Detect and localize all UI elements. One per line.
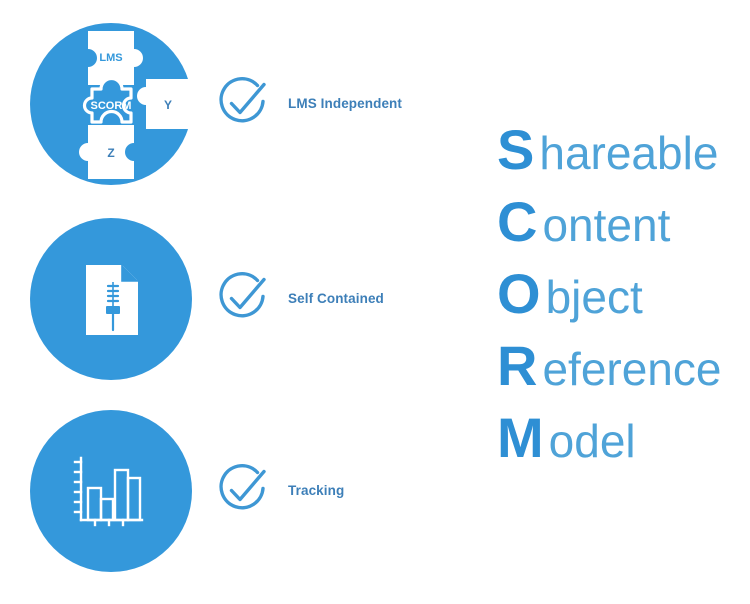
acronym-initial: R xyxy=(497,338,536,394)
acronym-rest: bject xyxy=(546,274,643,320)
acronym-rest: ontent xyxy=(542,202,670,248)
feature-label: Tracking xyxy=(288,483,344,498)
puzzle-label-y: Y xyxy=(164,98,172,112)
bar-chart-icon xyxy=(30,410,192,572)
feature-label: LMS Independent xyxy=(288,96,402,111)
puzzle-label-scorm: SCORM xyxy=(91,100,132,112)
check-circle-icon xyxy=(212,459,274,521)
check-circle-container xyxy=(212,459,274,521)
scorm-acronym: S hareable C ontent O bject R eference M… xyxy=(497,122,750,482)
check-circle-icon xyxy=(212,267,274,329)
check-circle-icon xyxy=(212,72,274,134)
feature-row: Self Contained xyxy=(0,198,384,398)
document-disc-container xyxy=(0,198,200,398)
acronym-line: S hareable xyxy=(497,122,750,194)
acronym-line: M odel xyxy=(497,410,750,482)
puzzle-label-lms: LMS xyxy=(99,52,122,64)
chart-disc-container xyxy=(0,390,200,590)
acronym-initial: S xyxy=(497,122,533,178)
acronym-line: C ontent xyxy=(497,194,750,266)
infographic-canvas: LMS SCORM Y Z LMS Independent xyxy=(0,0,750,604)
acronym-initial: C xyxy=(497,194,536,250)
puzzle-label-z: Z xyxy=(107,146,114,160)
acronym-initial: M xyxy=(497,410,543,466)
acronym-line: O bject xyxy=(497,266,750,338)
feature-row: Tracking xyxy=(0,390,344,590)
check-circle-container xyxy=(212,267,274,329)
zipped-document-icon xyxy=(30,218,192,380)
acronym-rest: eference xyxy=(542,346,721,392)
puzzle-disc-container: LMS SCORM Y Z xyxy=(0,3,200,203)
acronym-rest: odel xyxy=(549,418,636,464)
feature-row: LMS SCORM Y Z LMS Independent xyxy=(0,3,402,203)
check-circle-container xyxy=(212,72,274,134)
acronym-initial: O xyxy=(497,266,540,322)
acronym-rest: hareable xyxy=(539,130,718,176)
puzzle-pieces-icon: LMS SCORM Y Z xyxy=(30,23,192,185)
acronym-line: R eference xyxy=(497,338,750,410)
feature-label: Self Contained xyxy=(288,291,384,306)
